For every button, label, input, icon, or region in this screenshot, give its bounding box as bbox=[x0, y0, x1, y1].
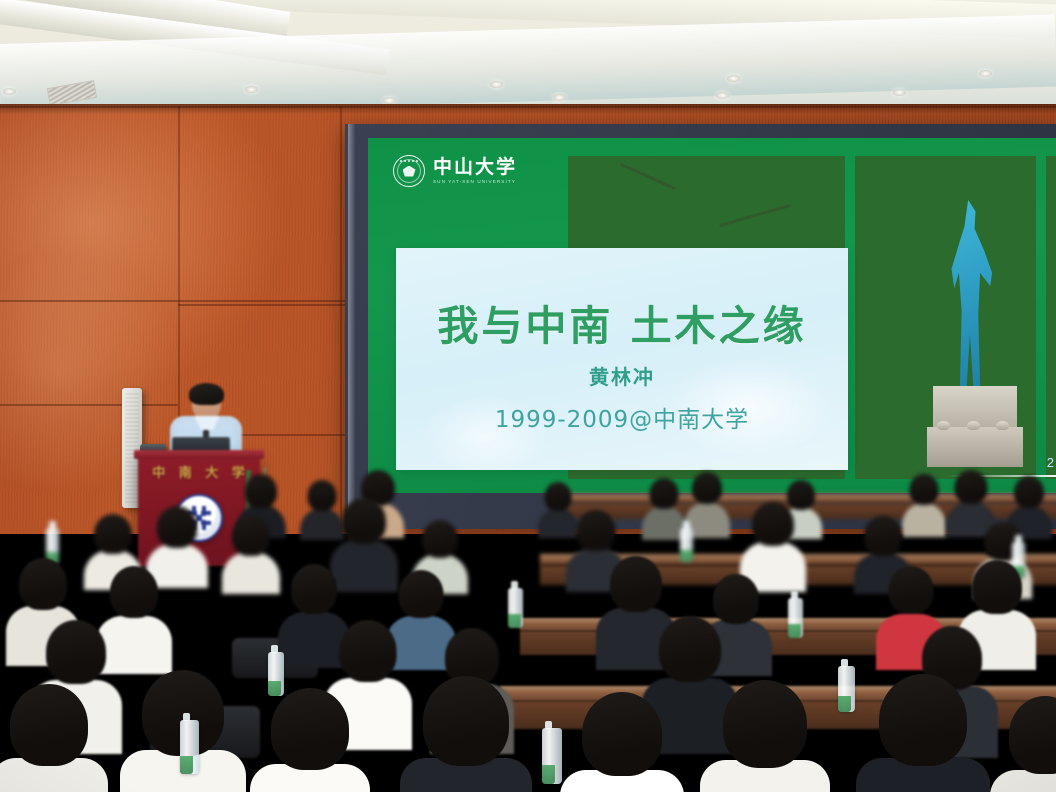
person-head bbox=[659, 616, 721, 682]
person-head bbox=[342, 498, 386, 544]
water-bottle bbox=[508, 588, 523, 628]
wall-seam bbox=[178, 304, 345, 306]
person-head bbox=[422, 520, 458, 558]
audience-member bbox=[560, 692, 684, 792]
seal-dots bbox=[394, 160, 424, 162]
person-head bbox=[340, 620, 397, 682]
audience-member bbox=[250, 688, 370, 792]
wall-seam bbox=[0, 404, 178, 406]
ceiling-downlight bbox=[553, 94, 566, 101]
person-head bbox=[10, 684, 88, 766]
panel-light-wash bbox=[396, 248, 848, 470]
audience-member bbox=[400, 676, 532, 792]
pedestal-knob bbox=[937, 421, 950, 430]
person-body bbox=[222, 552, 280, 594]
ceiling-downlight bbox=[383, 97, 396, 104]
ceiling-downlight bbox=[893, 89, 906, 96]
water-bottle bbox=[542, 728, 562, 784]
person-head bbox=[110, 566, 158, 618]
ceiling-downlight bbox=[245, 86, 258, 93]
water-bottle bbox=[838, 666, 855, 712]
brand-name-en: SUN YAT-SEN UNIVERSITY bbox=[433, 180, 517, 185]
podium-top-edge bbox=[134, 450, 264, 459]
ceiling bbox=[0, 0, 1056, 118]
person-head bbox=[1009, 696, 1056, 774]
presentation-slide: 中山大学 SUN YAT-SEN UNIVERSITY 我与中南 土木之缘 黄林… bbox=[368, 138, 1056, 493]
brand-name-cn: 中山大学 bbox=[433, 158, 517, 177]
water-bottle bbox=[680, 528, 693, 562]
bronze-statue-figure bbox=[948, 200, 994, 392]
slide-title-panel: 我与中南 土木之缘 黄林冲 1999-2009@中南大学 bbox=[396, 248, 848, 470]
person-head bbox=[650, 478, 679, 509]
pedestal-knob bbox=[996, 421, 1009, 430]
pedestal-knob bbox=[967, 421, 980, 430]
person-head bbox=[423, 676, 509, 766]
presenter-hair bbox=[189, 383, 224, 405]
brand-text-group: 中山大学 SUN YAT-SEN UNIVERSITY bbox=[433, 158, 517, 185]
water-bottle bbox=[180, 720, 199, 774]
person-head bbox=[955, 470, 988, 504]
audience-member bbox=[0, 684, 108, 792]
person-head bbox=[545, 482, 572, 511]
ceiling-downlight bbox=[727, 75, 740, 82]
wall-seam bbox=[0, 300, 345, 302]
water-bottle bbox=[788, 598, 803, 638]
person-head bbox=[879, 674, 967, 766]
sysu-logo-lockup: 中山大学 SUN YAT-SEN UNIVERSITY bbox=[393, 155, 517, 187]
person-head bbox=[577, 510, 616, 551]
person-head bbox=[1014, 476, 1044, 508]
person-head bbox=[19, 558, 67, 610]
ceiling-downlight bbox=[716, 92, 729, 99]
person-head bbox=[692, 472, 722, 504]
person-head bbox=[232, 516, 270, 556]
person-head bbox=[399, 570, 444, 618]
audience-member bbox=[684, 472, 730, 536]
person-head bbox=[910, 474, 939, 505]
person-head bbox=[582, 692, 662, 776]
person-head bbox=[972, 560, 1022, 614]
ceiling-downlight bbox=[979, 70, 992, 77]
ceiling-downlight bbox=[490, 81, 503, 88]
audience-member bbox=[700, 680, 830, 792]
foliage-texture bbox=[1046, 156, 1056, 479]
audience-member bbox=[222, 516, 280, 592]
person-head bbox=[610, 556, 662, 612]
slide-author: 黄林冲 bbox=[396, 361, 848, 390]
audience-area bbox=[0, 470, 1056, 792]
slide-photo-foliage-right bbox=[1046, 156, 1056, 479]
person-head bbox=[889, 566, 934, 614]
sysu-seal-icon bbox=[393, 155, 425, 187]
slide-page-number: 2 bbox=[1047, 455, 1054, 470]
slide-title: 我与中南 土木之缘 bbox=[396, 292, 848, 352]
person-head bbox=[864, 516, 902, 556]
slide-photo-statue bbox=[855, 156, 1036, 479]
statue-pedestal-lower bbox=[927, 427, 1024, 468]
person-head bbox=[245, 474, 277, 508]
seal-inner-shape bbox=[403, 166, 416, 177]
lecture-hall-scene: 中山大学 SUN YAT-SEN UNIVERSITY 我与中南 土木之缘 黄林… bbox=[0, 0, 1056, 792]
audience-member bbox=[856, 674, 990, 792]
ceiling-downlight bbox=[3, 88, 16, 95]
person-head bbox=[291, 564, 337, 614]
person-head bbox=[157, 506, 197, 548]
person-head bbox=[752, 502, 794, 546]
audience-member bbox=[990, 696, 1056, 792]
statue-group bbox=[931, 188, 1036, 479]
wall-seam bbox=[0, 106, 1056, 108]
person-head bbox=[46, 620, 106, 684]
person-head bbox=[723, 680, 807, 768]
person-head bbox=[271, 688, 349, 770]
slide-affiliation: 1999-2009@中南大学 bbox=[396, 400, 848, 434]
person-head bbox=[94, 514, 132, 554]
